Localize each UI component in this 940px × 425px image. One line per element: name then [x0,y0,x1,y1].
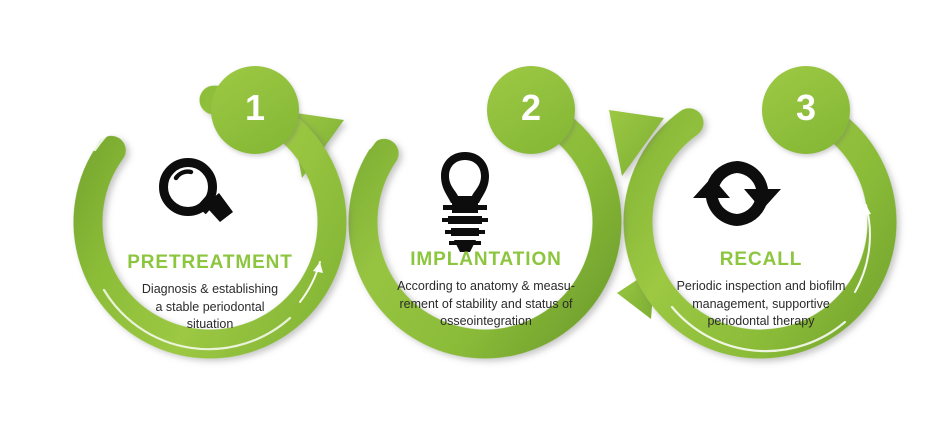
step-3-badge-circle [762,66,850,154]
step-3-ring [622,84,898,360]
step-2-inner-arrow-head [468,93,478,103]
step-1-ring-group [56,68,363,375]
step-3-ring-group [617,84,898,360]
magnifier-icon [164,163,234,223]
process-diagram-svg [0,0,940,425]
step-1-badge-circle [211,66,299,154]
infographic-canvas: 1 2 3 PRETREATMENT Diagnosis & establish… [0,0,940,425]
dental-implant-icon [441,152,489,252]
step-2-inner-arrow-shaft [393,97,478,122]
step-2-badge-circle [487,66,575,154]
step-1-ring [56,68,363,375]
cycle-arrows-icon [693,161,781,226]
